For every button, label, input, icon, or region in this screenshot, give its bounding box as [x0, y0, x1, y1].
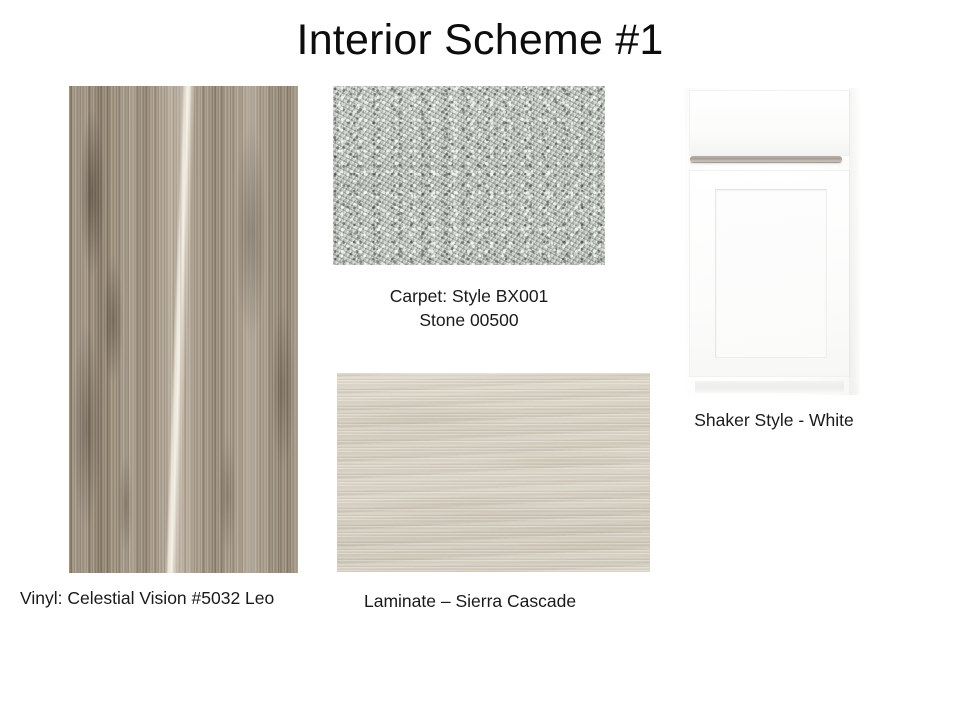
laminate-swatch	[337, 373, 650, 572]
cabinet-drawer-front	[689, 90, 850, 156]
cabinet-door-swatch	[685, 88, 860, 395]
vinyl-plank-joint	[250, 86, 252, 573]
vinyl-grain-figure-right	[212, 86, 298, 573]
vinyl-flooring-swatch	[69, 86, 298, 573]
vinyl-grain-figure-left	[71, 86, 141, 573]
carpet-caption: Carpet: Style BX001 Stone 00500	[333, 284, 605, 332]
cabinet-caption: Shaker Style - White	[660, 408, 888, 432]
cabinet-right-edge-shading	[849, 88, 860, 395]
carpet-caption-line-2: Stone 00500	[333, 308, 605, 332]
laminate-caption: Laminate – Sierra Cascade	[364, 589, 650, 613]
cabinet-recessed-panel	[715, 189, 827, 358]
cabinet-bar-pull-handle	[690, 156, 842, 163]
page-title: Interior Scheme #1	[0, 16, 960, 65]
cabinet-base	[695, 381, 844, 393]
vinyl-plank-joint	[180, 86, 182, 573]
cabinet-shaker-door	[689, 170, 850, 377]
vinyl-caption: Vinyl: Celestial Vision #5032 Leo	[20, 586, 360, 610]
carpet-swatch	[333, 86, 605, 265]
carpet-caption-line-1: Carpet: Style BX001	[333, 284, 605, 308]
